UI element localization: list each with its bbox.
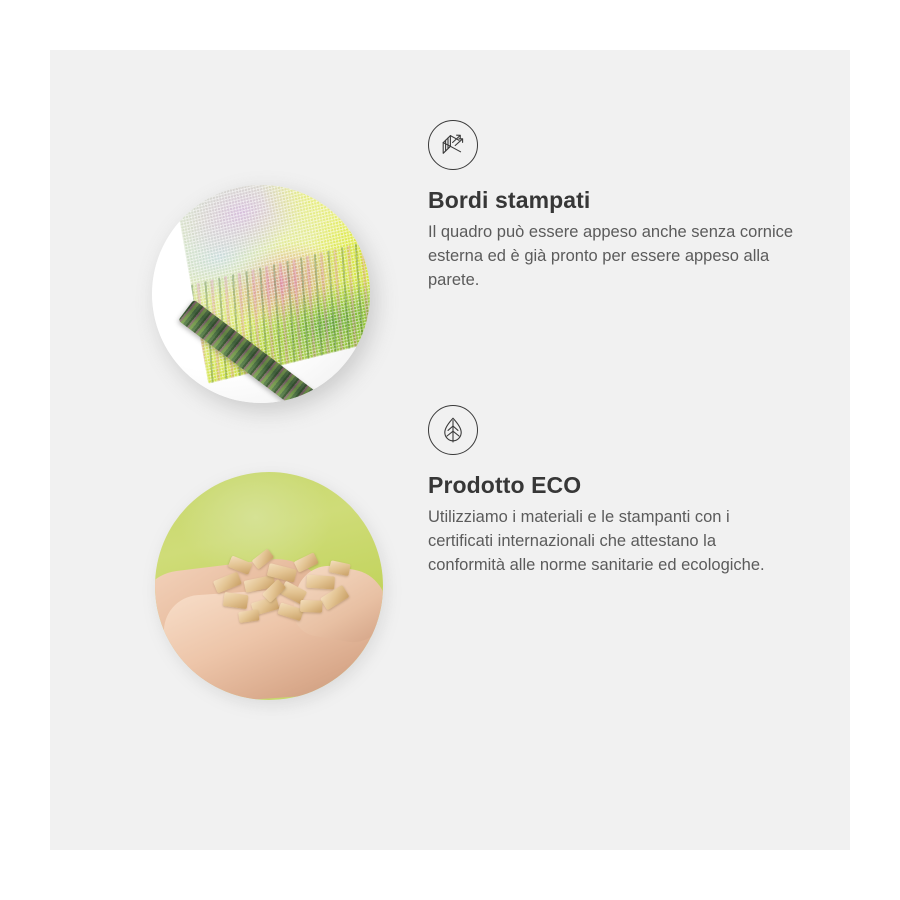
feature-eco-product: Prodotto ECO Utilizziamo i materiali e l… — [50, 405, 850, 705]
feature-text-eco-product: Prodotto ECO Utilizziamo i materiali e l… — [428, 405, 808, 578]
feature-description: Utilizziamo i materiali e le stampanti c… — [428, 506, 796, 578]
leaf-icon — [428, 405, 478, 455]
feature-title: Bordi stampati — [428, 188, 808, 213]
feature-text-printed-edges: Bordi stampati Il quadro può essere appe… — [428, 120, 808, 293]
canvas-corner-illustration — [152, 185, 370, 403]
printed-canvas-corner-photo — [152, 185, 370, 403]
wrapped-canvas-edge-icon — [428, 120, 478, 170]
feature-title: Prodotto ECO — [428, 473, 808, 498]
product-feature-page: Bordi stampati Il quadro può essere appe… — [0, 0, 900, 900]
hands-holding-wood-chips-photo — [155, 472, 383, 700]
feature-printed-edges: Bordi stampati Il quadro può essere appe… — [50, 120, 850, 420]
wood-chips-cluster — [208, 541, 364, 637]
feature-description: Il quadro può essere appeso anche senza … — [428, 221, 796, 293]
canvas-print-face — [172, 185, 370, 384]
